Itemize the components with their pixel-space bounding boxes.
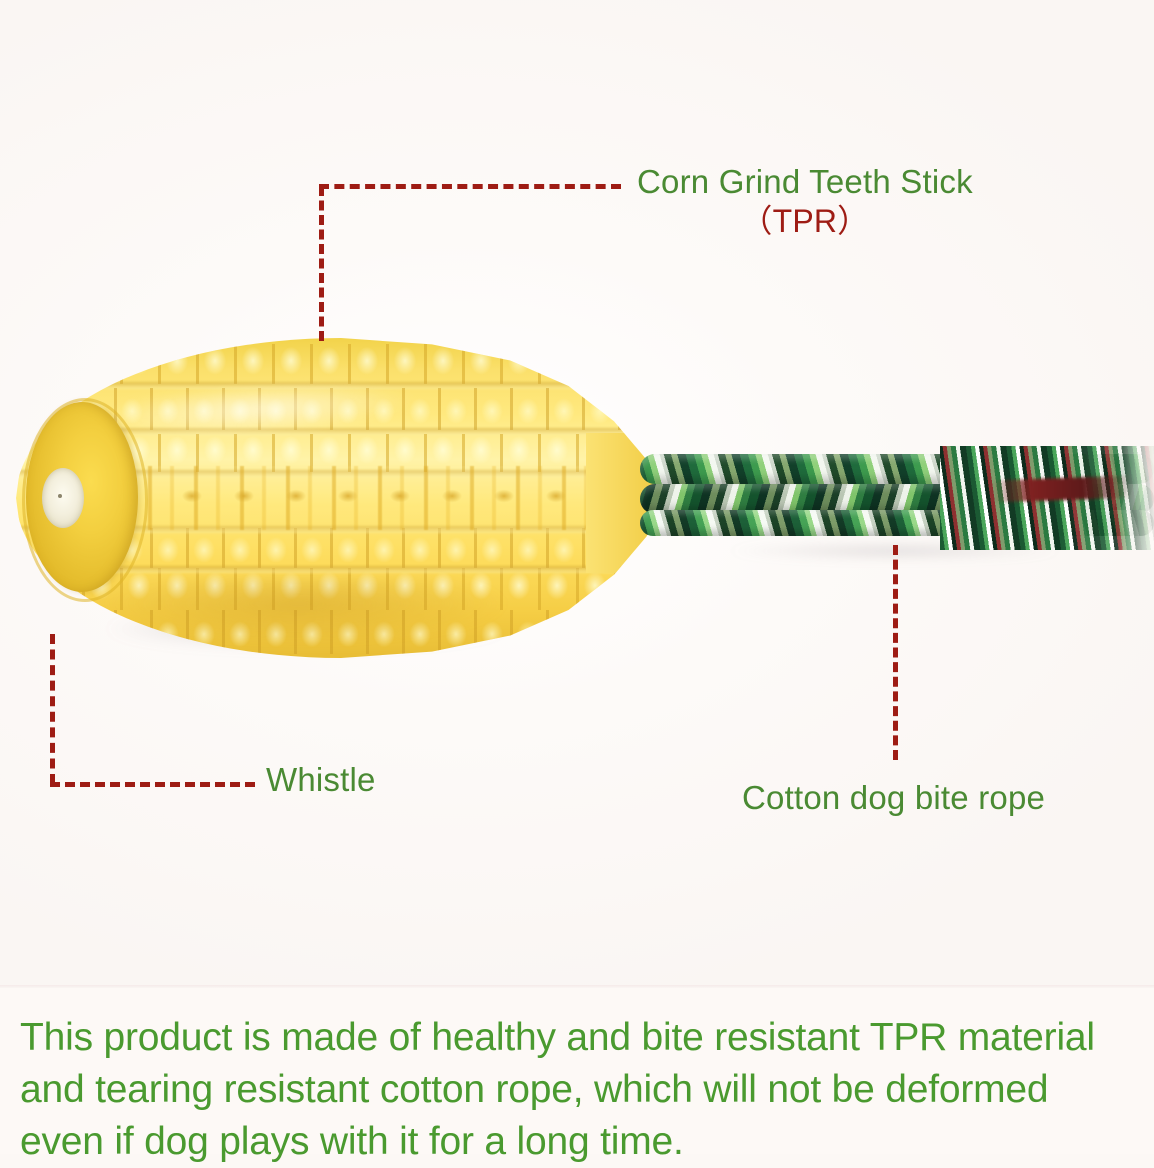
whistle-hole — [42, 468, 84, 528]
rope-strands — [640, 440, 1154, 550]
leader-line-whistle-vertical — [50, 634, 55, 784]
leader-line-corn-vertical — [319, 186, 324, 341]
leader-line-corn-horizontal — [319, 184, 621, 189]
product-description: This product is made of healthy and bite… — [0, 1012, 1154, 1168]
leader-line-rope-vertical — [893, 545, 898, 760]
rope-tip-fade — [1118, 440, 1154, 550]
callout-label-corn-stick: Corn Grind Teeth Stick （TPR） — [637, 162, 973, 241]
corn-groove-dimples — [166, 478, 636, 514]
callout-label-whistle: Whistle — [266, 760, 376, 800]
callout-label-cotton-rope: Cotton dog bite rope — [742, 778, 1045, 818]
callout-label-corn-stick-text: Corn Grind Teeth Stick — [637, 163, 973, 200]
product-photo: Corn Grind Teeth Stick （TPR） Whistle Cot… — [0, 0, 1154, 988]
whistle-cap-rim — [22, 398, 148, 602]
callout-label-corn-stick-material: （TPR） — [637, 202, 973, 241]
corn-grind-teeth-stick — [6, 330, 686, 690]
product-infographic: Corn Grind Teeth Stick （TPR） Whistle Cot… — [0, 0, 1154, 1154]
leader-line-whistle-horizontal — [50, 782, 255, 787]
